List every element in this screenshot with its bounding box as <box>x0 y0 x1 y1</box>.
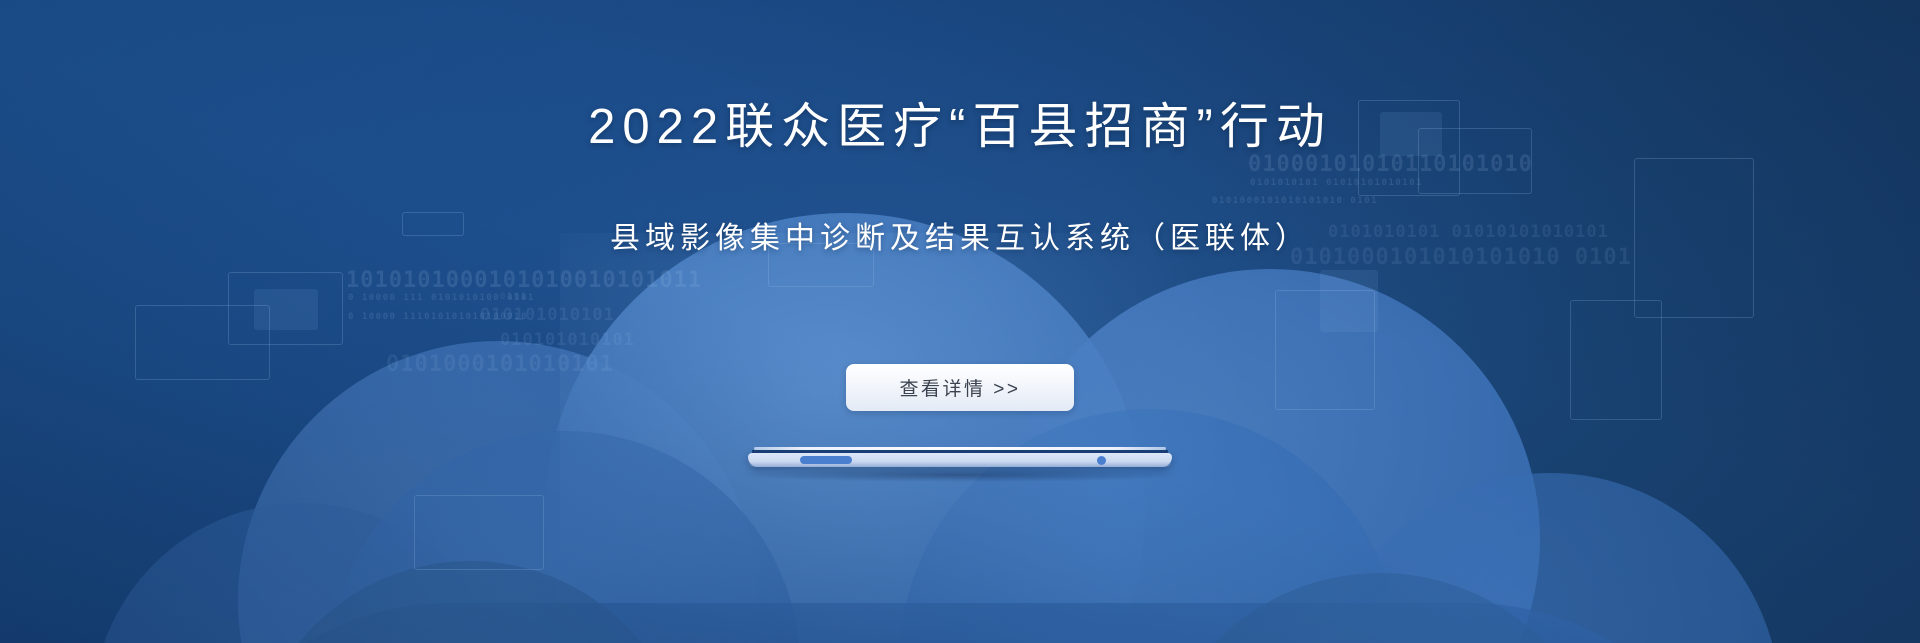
binary-text-3: 010101010101 <box>500 330 635 350</box>
binary-text-6: 0101010101 01010101010101 <box>1250 178 1423 188</box>
page-title: 2022联众医疗“百县招商”行动 <box>0 96 1920 158</box>
decor-fill-left <box>254 289 318 330</box>
binary-text-10: 010101010101 <box>480 305 615 325</box>
laptop-port-indicator <box>800 456 852 464</box>
binary-text-11: 0101 <box>500 292 528 302</box>
binary-text-0: 1010101000101010010101011 <box>346 268 702 293</box>
promo-banner: 1010101000101010010101011 0 10000 111 01… <box>0 0 1920 643</box>
laptop-status-dot <box>1097 456 1106 465</box>
cta-container: 查看详情 >> <box>0 364 1920 411</box>
binary-text-7: 0101000101010101010 0101 <box>1212 196 1378 206</box>
decor-rect-bottom-left <box>414 495 544 570</box>
view-details-button[interactable]: 查看详情 >> <box>846 364 1074 411</box>
laptop-device <box>748 447 1172 471</box>
page-subtitle: 县域影像集中诊断及结果互认系统（医联体） <box>0 218 1920 260</box>
